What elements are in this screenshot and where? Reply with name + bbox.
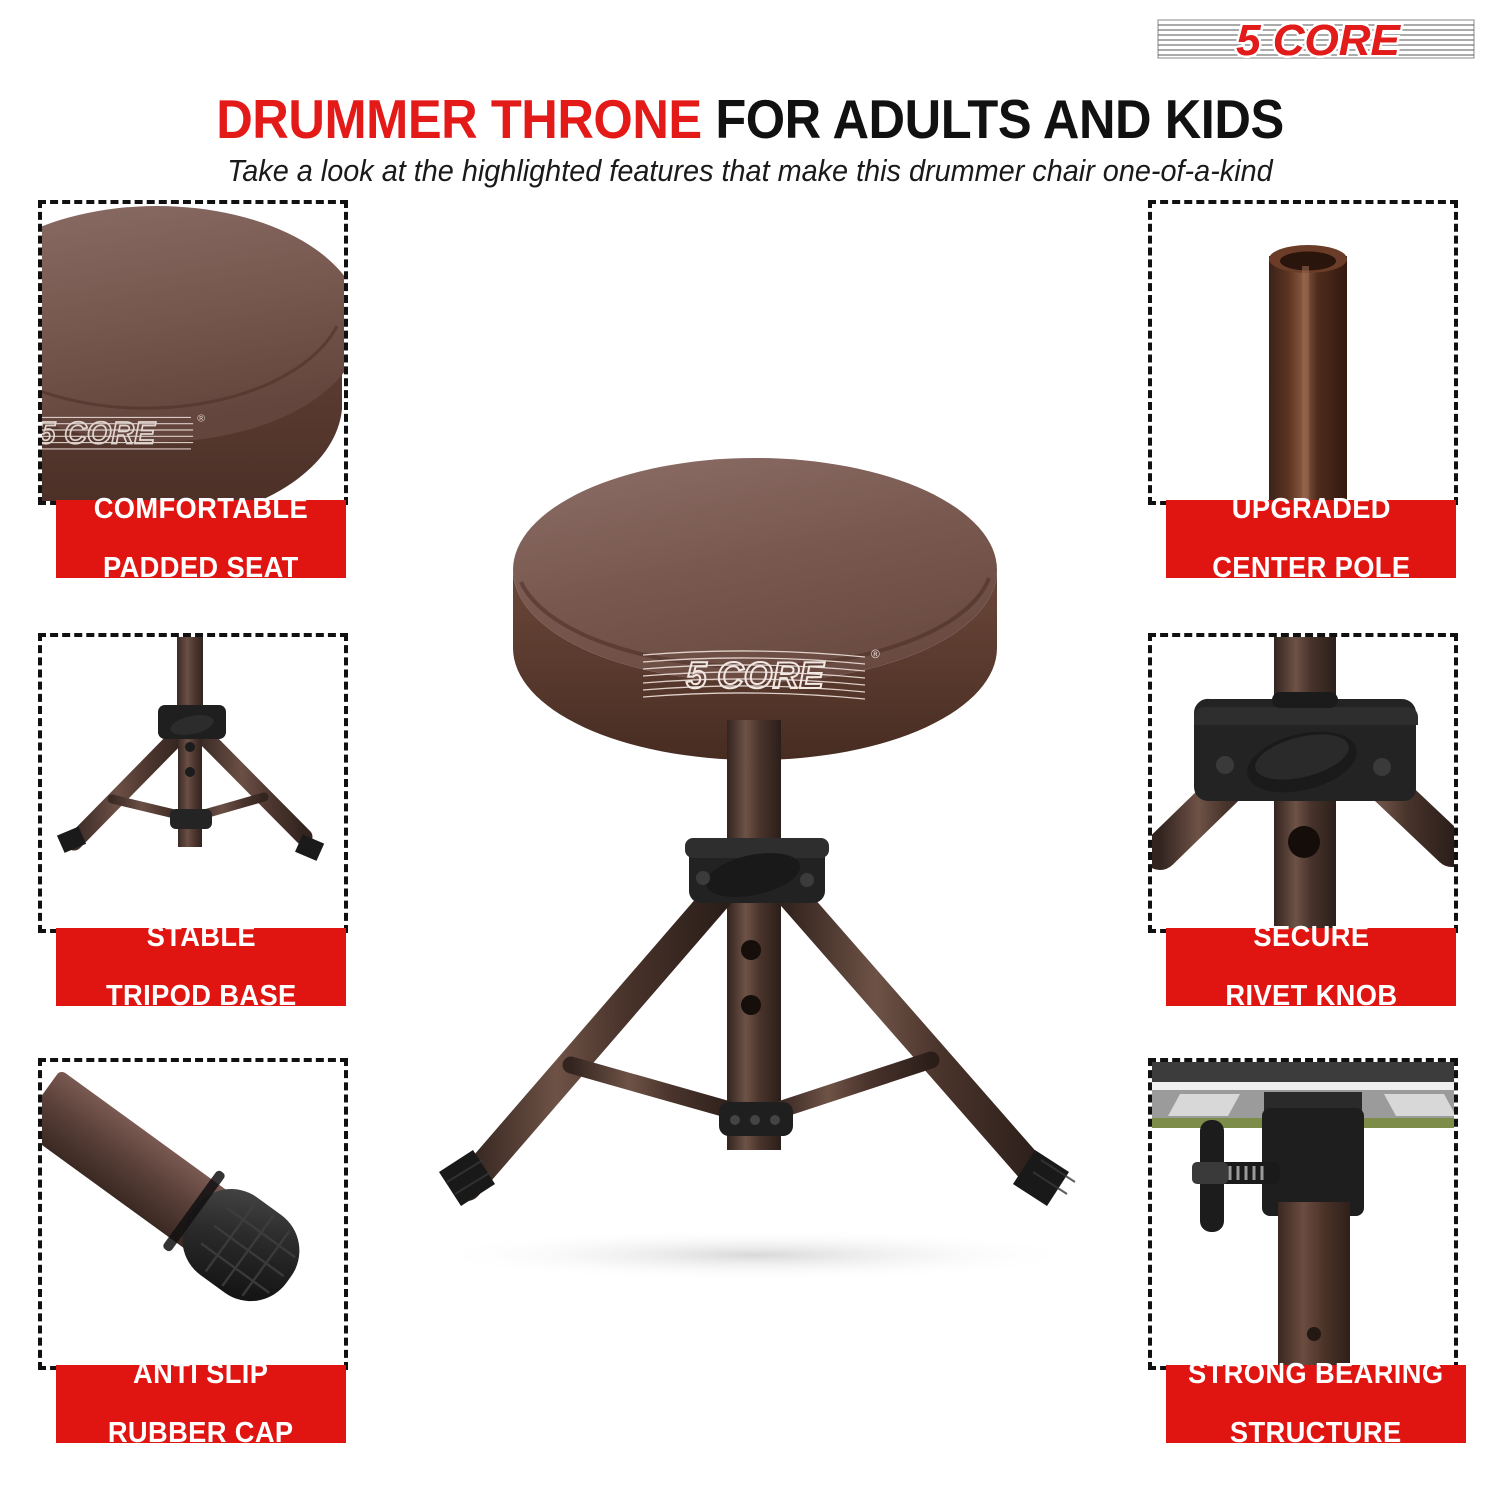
- feature-panel-comfortable-padded-seat: 5 CORE ® COMFORTABLE PADDED SEAT: [18, 200, 363, 620]
- svg-text:5 CORE: 5 CORE: [1236, 16, 1401, 65]
- seat-cushion-closeup-icon: 5 CORE ®: [42, 204, 348, 505]
- feature-label-line2: RUBBER CAP: [108, 1419, 294, 1449]
- feature-image-frame: [38, 1058, 348, 1370]
- feature-label-line2: PADDED SEAT: [94, 554, 308, 584]
- svg-text:®: ®: [197, 413, 205, 425]
- bearing-structure-closeup-icon: [1152, 1062, 1458, 1370]
- feature-label-line2: STRUCTURE: [1188, 1419, 1443, 1449]
- feature-panel-anti-slip-rubber-cap: ANTI SLIP RUBBER CAP: [18, 1058, 363, 1488]
- feature-image-frame: 5 CORE ®: [38, 200, 348, 505]
- feature-label-line1: STABLE: [106, 923, 297, 953]
- feature-image-frame: [1148, 633, 1458, 933]
- center-pole-closeup-icon: [1152, 204, 1458, 505]
- feature-label-line1: STRONG BEARING: [1188, 1360, 1443, 1390]
- feature-label-line2: CENTER POLE: [1212, 554, 1410, 584]
- feature-label-line2: RIVET KNOB: [1225, 982, 1397, 1012]
- feature-label-strong-bearing-structure: STRONG BEARING STRUCTURE: [1166, 1365, 1466, 1443]
- svg-text:®: ®: [871, 647, 880, 661]
- feature-label-comfortable-padded-seat: COMFORTABLE PADDED SEAT: [56, 500, 346, 578]
- feature-panel-strong-bearing-structure: STRONG BEARING STRUCTURE: [1138, 1058, 1483, 1488]
- page-title-black: FOR ADULTS AND KIDS: [715, 88, 1283, 150]
- feature-image-frame: [38, 633, 348, 933]
- feature-label-anti-slip-rubber-cap: ANTI SLIP RUBBER CAP: [56, 1365, 346, 1443]
- feature-panel-stable-tripod-base: STABLE TRIPOD BASE: [18, 633, 363, 1053]
- rubber-foot-cap-closeup-icon: [42, 1062, 348, 1370]
- tripod-base-closeup-icon: [42, 637, 348, 933]
- svg-text:5 CORE: 5 CORE: [686, 655, 825, 696]
- feature-label-line2: TRIPOD BASE: [106, 982, 297, 1012]
- feature-label-line1: SECURE: [1225, 923, 1397, 953]
- feature-panel-upgraded-center-pole: UPGRADED CENTER POLE: [1138, 200, 1483, 620]
- page-subtitle: Take a look at the highlighted features …: [53, 152, 1448, 190]
- feature-label-stable-tripod-base: STABLE TRIPOD BASE: [56, 928, 346, 1006]
- feature-label-upgraded-center-pole: UPGRADED CENTER POLE: [1166, 500, 1456, 578]
- hero-product-image: 5 CORE ®: [375, 420, 1135, 1320]
- page-title: DRUMMER THRONE FOR ADULTS AND KIDS: [60, 88, 1440, 150]
- feature-panel-secure-rivet-knob: SECURE RIVET KNOB: [1138, 633, 1483, 1053]
- feature-label-line1: COMFORTABLE: [94, 495, 308, 525]
- feature-label-secure-rivet-knob: SECURE RIVET KNOB: [1166, 928, 1456, 1006]
- feature-label-line1: UPGRADED: [1212, 495, 1410, 525]
- brand-logo: 5 CORE 5 CORE: [1150, 8, 1482, 70]
- svg-text:5 CORE: 5 CORE: [42, 415, 156, 451]
- page-title-red: DRUMMER THRONE: [216, 88, 701, 150]
- feature-image-frame: [1148, 200, 1458, 505]
- feature-image-frame: [1148, 1058, 1458, 1370]
- feature-label-line1: ANTI SLIP: [108, 1360, 294, 1390]
- rivet-knob-closeup-icon: [1152, 637, 1458, 933]
